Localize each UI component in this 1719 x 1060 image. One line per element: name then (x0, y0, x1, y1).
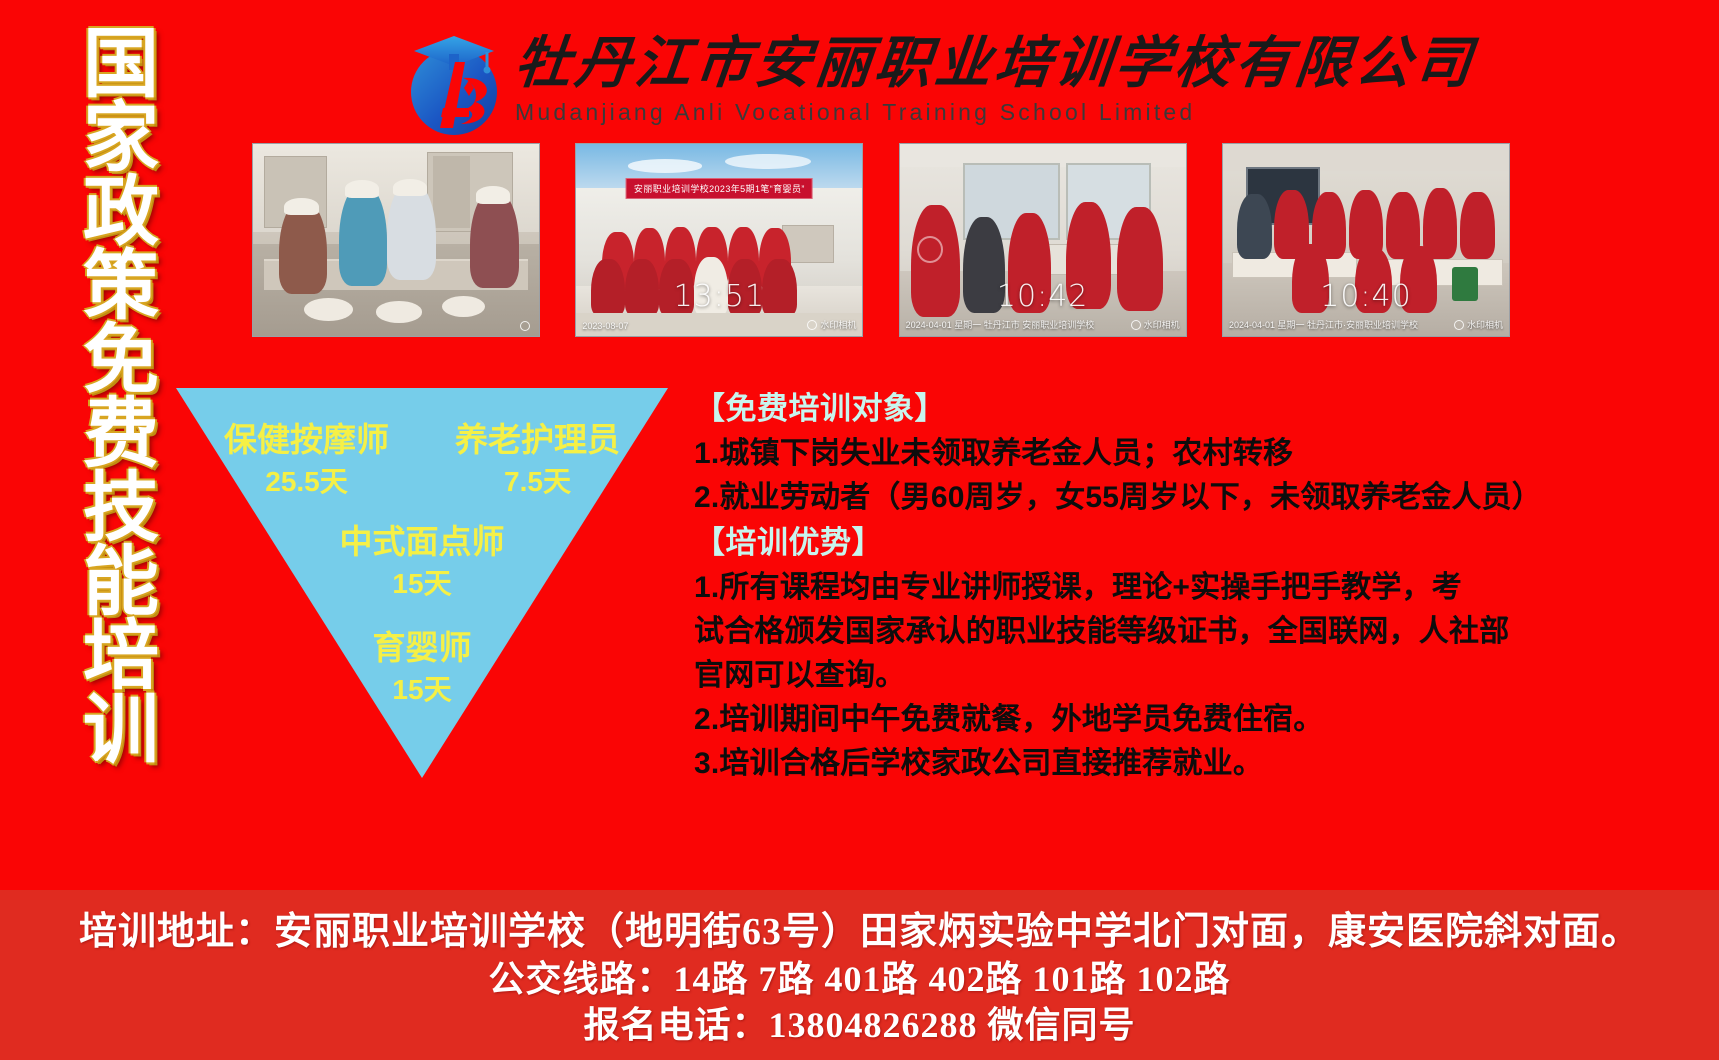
course-name: 育婴师 (373, 628, 472, 668)
photo-classroom-lecture: 10:40 2024-04-01 星期一 牡丹江市·安丽职业培训学校 水印相机 (1222, 143, 1510, 337)
course-name: 养老护理员 (455, 420, 620, 460)
course-duration: 15天 (392, 566, 451, 602)
photo-strip: 安丽职业培训学校2023年5期1笔“育婴员” 13:51 2023-08-07 … (252, 143, 1510, 337)
camera-icon (1454, 320, 1464, 330)
training-address: 培训地址：安丽职业培训学校（地明街63号）田家炳实验中学北门对面，康安医院斜对面… (79, 908, 1640, 956)
photo-timestamp: 10:42 (997, 279, 1088, 314)
photo-pastry-kitchen (252, 143, 540, 337)
info-line: 试合格颁发国家承认的职业技能等级证书，全国联网，人社部 (694, 610, 1704, 654)
photo-watermark-brand: 水印相机 (807, 318, 856, 331)
photo-banner-text: 安丽职业培训学校2023年5期1笔“育婴员” (626, 178, 813, 199)
course-item-massage: 保健按摩师 25.5天 (224, 420, 389, 500)
headline-char: 训 (83, 694, 159, 768)
headline-char: 能 (83, 546, 159, 620)
photo-timestamp: 13:51 (674, 279, 765, 314)
headline-char: 政 (83, 176, 159, 250)
info-line: 官网可以查询。 (694, 654, 1704, 698)
info-line: 2.就业劳动者（男60周岁，女55周岁以下，未领取养老金人员） (694, 476, 1704, 520)
headline-char: 国 (83, 28, 159, 102)
headline-char: 培 (83, 620, 159, 694)
course-duration: 25.5天 (265, 464, 348, 500)
course-item-eldercare: 养老护理员 7.5天 (455, 420, 620, 500)
info-section-title-advantages: 【培训优势】 (694, 520, 1704, 566)
course-triangle: 保健按摩师 25.5天 养老护理员 7.5天 中式面点师 15天 育婴师 15天 (176, 388, 668, 778)
photo-class-group-2023: 安丽职业培训学校2023年5期1笔“育婴员” 13:51 2023-08-07 … (575, 143, 863, 337)
course-duration: 7.5天 (504, 464, 571, 500)
course-name: 中式面点师 (340, 522, 505, 562)
info-line: 3.培训合格后学校家政公司直接推荐就业。 (694, 742, 1704, 786)
photo-nursing-practice: 10:42 2024-04-01 星期一 牡丹江市 安丽职业培训学校 水印相机 (899, 143, 1187, 337)
anli-school-logo-icon (395, 24, 513, 142)
photo-brand-label: 水印相机 (1144, 318, 1180, 331)
info-line: 1.所有课程均由专业讲师授课，理论+实操手把手教学，考 (694, 566, 1704, 610)
headline-char: 技 (83, 472, 159, 546)
contact-phone: 报名电话：13804826288 微信同号 (583, 1002, 1135, 1048)
vertical-headline: 国 家 政 策 免 费 技 能 培 训 (62, 28, 180, 768)
headline-char: 家 (83, 102, 159, 176)
info-line: 2.培训期间中午免费就餐，外地学员免费住宿。 (694, 698, 1704, 742)
course-name: 保健按摩师 (224, 420, 389, 460)
bus-routes: 公交线路：14路 7路 401路 402路 101路 102路 (488, 956, 1230, 1002)
poster-header: 牡丹江市安丽职业培训学校有限公司 Mudanjiang Anli Vocatio… (395, 22, 1295, 142)
poster-root: 国 家 政 策 免 费 技 能 培 训 (0, 0, 1719, 1060)
info-section-title-eligibility: 【免费培训对象】 (694, 386, 1704, 432)
course-item-pastry: 中式面点师 15天 (176, 522, 668, 602)
headline-char: 免 (83, 324, 159, 398)
course-row-top: 保健按摩师 25.5天 养老护理员 7.5天 (176, 420, 668, 500)
course-item-infantcare: 育婴师 15天 (176, 628, 668, 708)
photo-watermark-brand: 水印相机 (1131, 318, 1180, 331)
info-line: 1.城镇下岗失业未领取养老金人员；农村转移 (694, 432, 1704, 476)
school-name-en: Mudanjiang Anli Vocational Training Scho… (515, 98, 1295, 126)
photo-watermark-brand (520, 321, 533, 331)
school-name-cn: 牡丹江市安丽职业培训学校有限公司 (512, 32, 1299, 96)
course-duration: 15天 (392, 672, 451, 708)
photo-brand-label: 水印相机 (820, 318, 856, 331)
photo-timestamp: 10:40 (1320, 279, 1411, 314)
photo-brand-label: 水印相机 (1467, 318, 1503, 331)
photo-meta: 2024-04-01 星期一 牡丹江市 安丽职业培训学校 (906, 318, 1095, 331)
photo-watermark-brand: 水印相机 (1454, 318, 1503, 331)
contact-banner: 培训地址：安丽职业培训学校（地明街63号）田家炳实验中学北门对面，康安医院斜对面… (0, 890, 1719, 1060)
photo-meta: 2024-04-01 星期一 牡丹江市·安丽职业培训学校 (1229, 318, 1418, 331)
camera-icon (1131, 320, 1141, 330)
headline-char: 费 (83, 398, 159, 472)
school-name-block: 牡丹江市安丽职业培训学校有限公司 Mudanjiang Anli Vocatio… (515, 32, 1295, 126)
photo-meta: 2023-08-07 (582, 321, 628, 331)
info-block: 【免费培训对象】 1.城镇下岗失业未领取养老金人员；农村转移 2.就业劳动者（男… (694, 386, 1704, 786)
camera-icon (807, 320, 817, 330)
camera-icon (520, 321, 530, 331)
headline-char: 策 (83, 250, 159, 324)
